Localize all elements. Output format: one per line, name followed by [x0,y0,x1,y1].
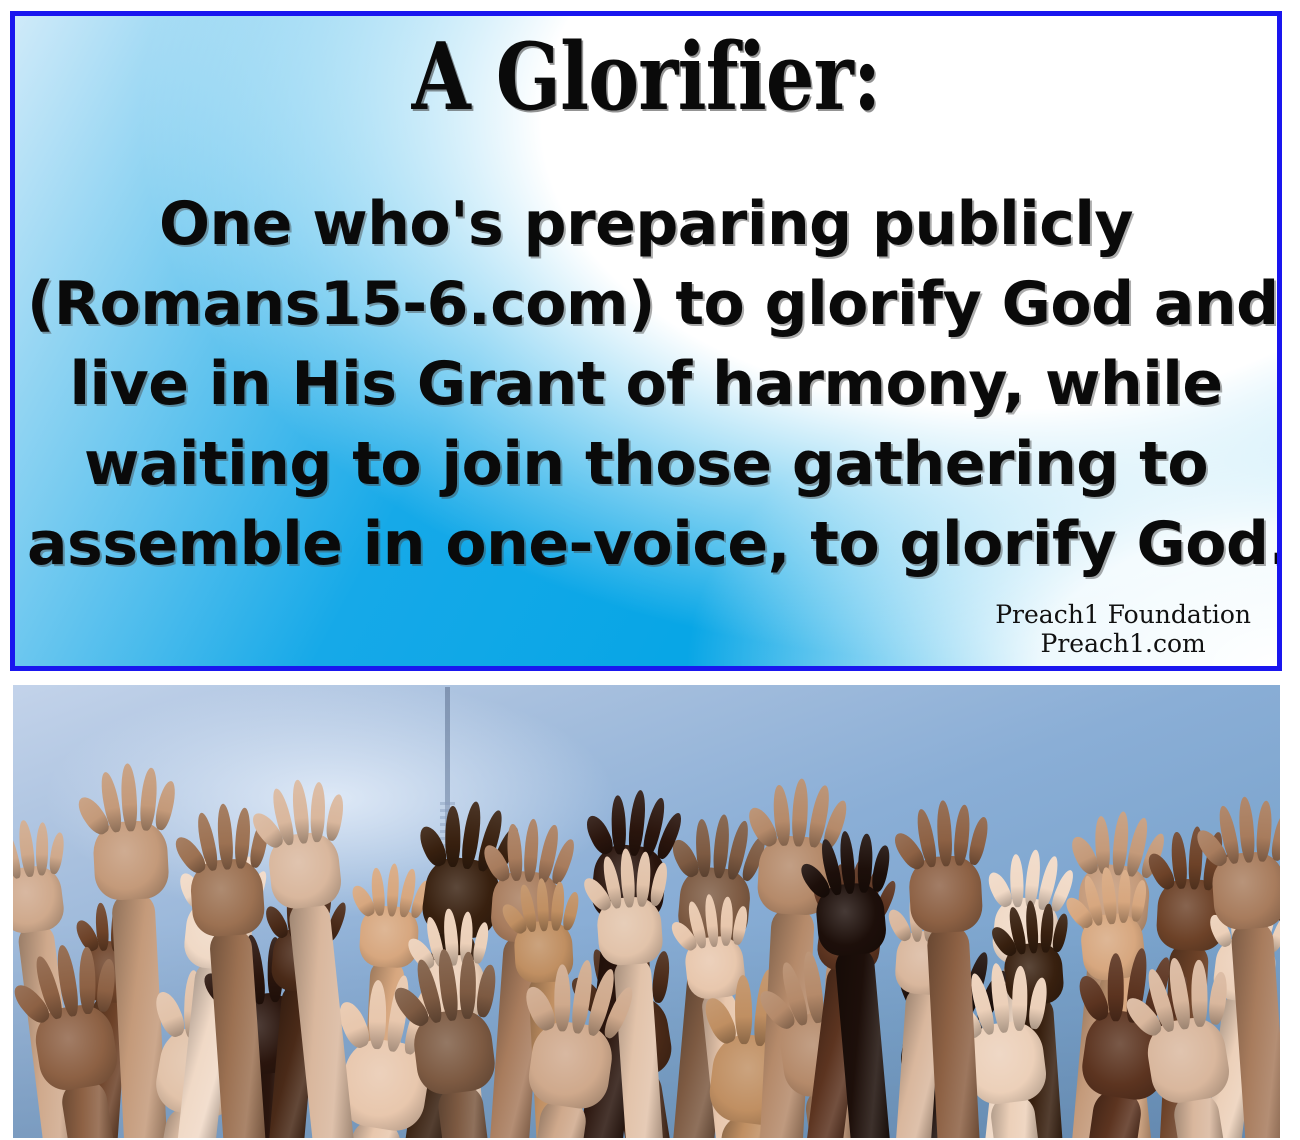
finger [1118,870,1132,923]
finger [1191,960,1208,1027]
forearm [834,945,890,1138]
definition-text: One who's preparing publicly (Romans15-6… [27,184,1265,584]
finger [368,980,386,1050]
forearm [209,926,266,1138]
finger [36,822,49,875]
credit-website: Preach1.com [995,629,1251,658]
finger [857,834,874,893]
palm [525,1018,616,1112]
page-title: A Glorifier: [129,28,1164,126]
definition-line-3: live in His Grant of harmony, while [27,344,1265,424]
definition-line-4: waiting to join those gathering to [27,424,1265,504]
credit-block: Preach1 Foundation Preach1.com [995,600,1251,658]
finger [459,952,476,1019]
forearm [287,897,354,1138]
raised-hands-photo [13,685,1280,1138]
definition-line-5: assemble in one-voice, to glorify God. [27,504,1265,584]
forearm [926,923,980,1138]
definition-line-2: (Romans15-6.com) to glorify God and [27,264,1265,344]
finger [446,806,461,867]
finger [1009,854,1024,908]
finger [720,896,733,946]
poster: A Glorifier: One who's preparing publicl… [0,0,1300,1140]
panel-content: A Glorifier: One who's preparing publicl… [15,16,1277,666]
finger [1012,966,1028,1031]
finger [610,795,626,855]
forearm [1230,919,1280,1138]
finger [310,782,326,842]
message-panel: A Glorifier: One who's preparing publicl… [10,11,1282,671]
finger [967,816,992,867]
credit-organization: Preach1 Foundation [995,600,1251,629]
definition-line-1: One who's preparing publicly [27,184,1265,264]
finger [79,947,96,1014]
finger [554,965,570,1032]
finger [1108,953,1124,1021]
